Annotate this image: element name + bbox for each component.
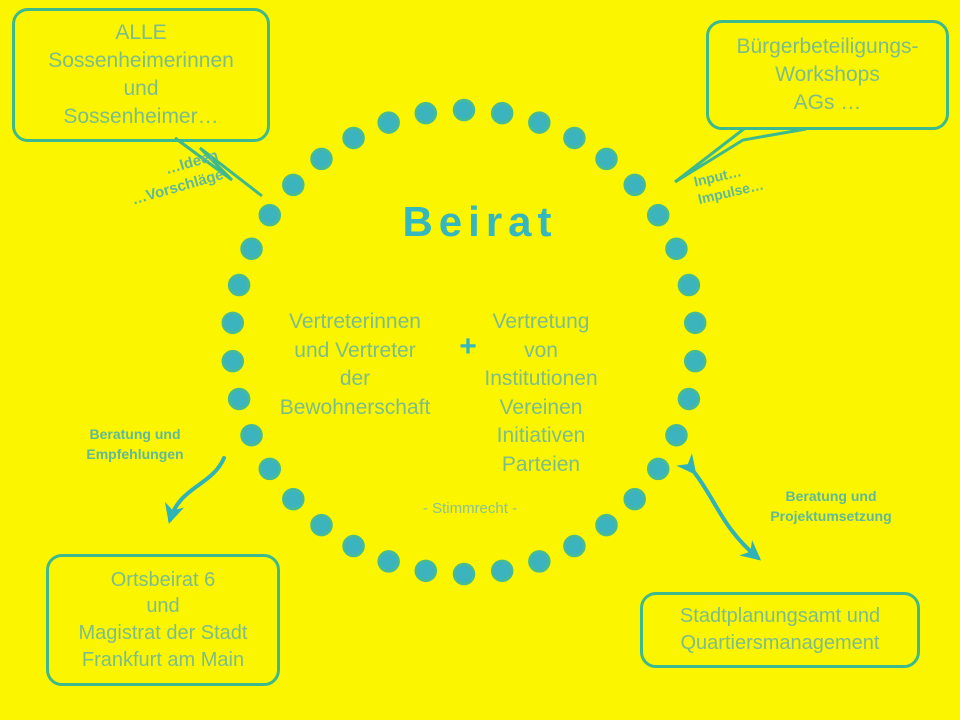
ring-dot xyxy=(312,149,332,169)
ring-dot xyxy=(666,425,686,445)
ring-dot xyxy=(679,389,699,409)
box-ortsbeirat-magistrat[interactable]: Ortsbeirat 6 und Magistrat der Stadt Fra… xyxy=(46,554,280,686)
bubble-alle-text: ALLE Sossenheimerinnen und Sossenheimer… xyxy=(25,19,257,131)
bubble-buergerbeteiligungs-workshops[interactable]: Bürgerbeteiligungs- Workshops AGs … xyxy=(706,20,949,130)
ring-dot xyxy=(529,113,549,133)
ring-dot xyxy=(229,389,249,409)
ring-dot xyxy=(283,489,303,509)
box-stadtplanungsamt-quartiersmanagement[interactable]: Stadtplanungsamt und Quartiersmanagement xyxy=(640,592,920,668)
ring-dot xyxy=(229,275,249,295)
box-ortsbeirat-text: Ortsbeirat 6 und Magistrat der Stadt Fra… xyxy=(59,567,267,673)
label-beratung-und-projektumsetzung: Beratung und Projektumsetzung xyxy=(742,487,920,526)
ring-dot xyxy=(564,128,584,148)
ring-dot xyxy=(564,536,584,556)
page-title: Beirat xyxy=(0,198,960,246)
ring-dot xyxy=(344,536,364,556)
column-vertreterinnen: Vertreterinnen und Vertreter der Bewohne… xyxy=(255,308,455,422)
arrow-beratung-empfehlungen xyxy=(170,458,224,520)
ring-dot xyxy=(312,515,332,535)
ring-dot xyxy=(597,149,617,169)
footnote-stimmrecht: - Stimmrecht - xyxy=(320,500,620,517)
ring-dot xyxy=(529,551,549,571)
ring-dot xyxy=(283,175,303,195)
ring-dot xyxy=(625,489,645,509)
ring-dot xyxy=(597,515,617,535)
ring-dot xyxy=(416,561,436,581)
ring-dot xyxy=(685,313,705,333)
ring-dot xyxy=(260,459,280,479)
ring-dot xyxy=(344,128,364,148)
ring-dot xyxy=(492,103,512,123)
ring-dot xyxy=(648,459,668,479)
ring-dot xyxy=(416,103,436,123)
ring-dot xyxy=(492,561,512,581)
ring-dot xyxy=(454,564,474,584)
box-stadtplanung-text: Stadtplanungsamt und Quartiersmanagement xyxy=(653,603,907,656)
ring-dot xyxy=(454,100,474,120)
ring-dot xyxy=(685,351,705,371)
bubble-alle-sossenheimer[interactable]: ALLE Sossenheimerinnen und Sossenheimer… xyxy=(12,8,270,142)
label-beratung-und-empfehlungen: Beratung und Empfehlungen xyxy=(60,425,210,464)
ring-dot xyxy=(379,551,399,571)
ring-dot xyxy=(625,175,645,195)
ring-dot xyxy=(679,275,699,295)
diagram-canvas: ALLE Sossenheimerinnen und Sossenheimer…… xyxy=(0,0,960,720)
ring-dot xyxy=(242,425,262,445)
ring-dot xyxy=(223,313,243,333)
bubble-workshops-text: Bürgerbeteiligungs- Workshops AGs … xyxy=(719,33,936,117)
ring-dot xyxy=(379,113,399,133)
column-institutionen: Vertretung von Institutionen Vereinen In… xyxy=(441,308,641,479)
ring-dot xyxy=(223,351,243,371)
